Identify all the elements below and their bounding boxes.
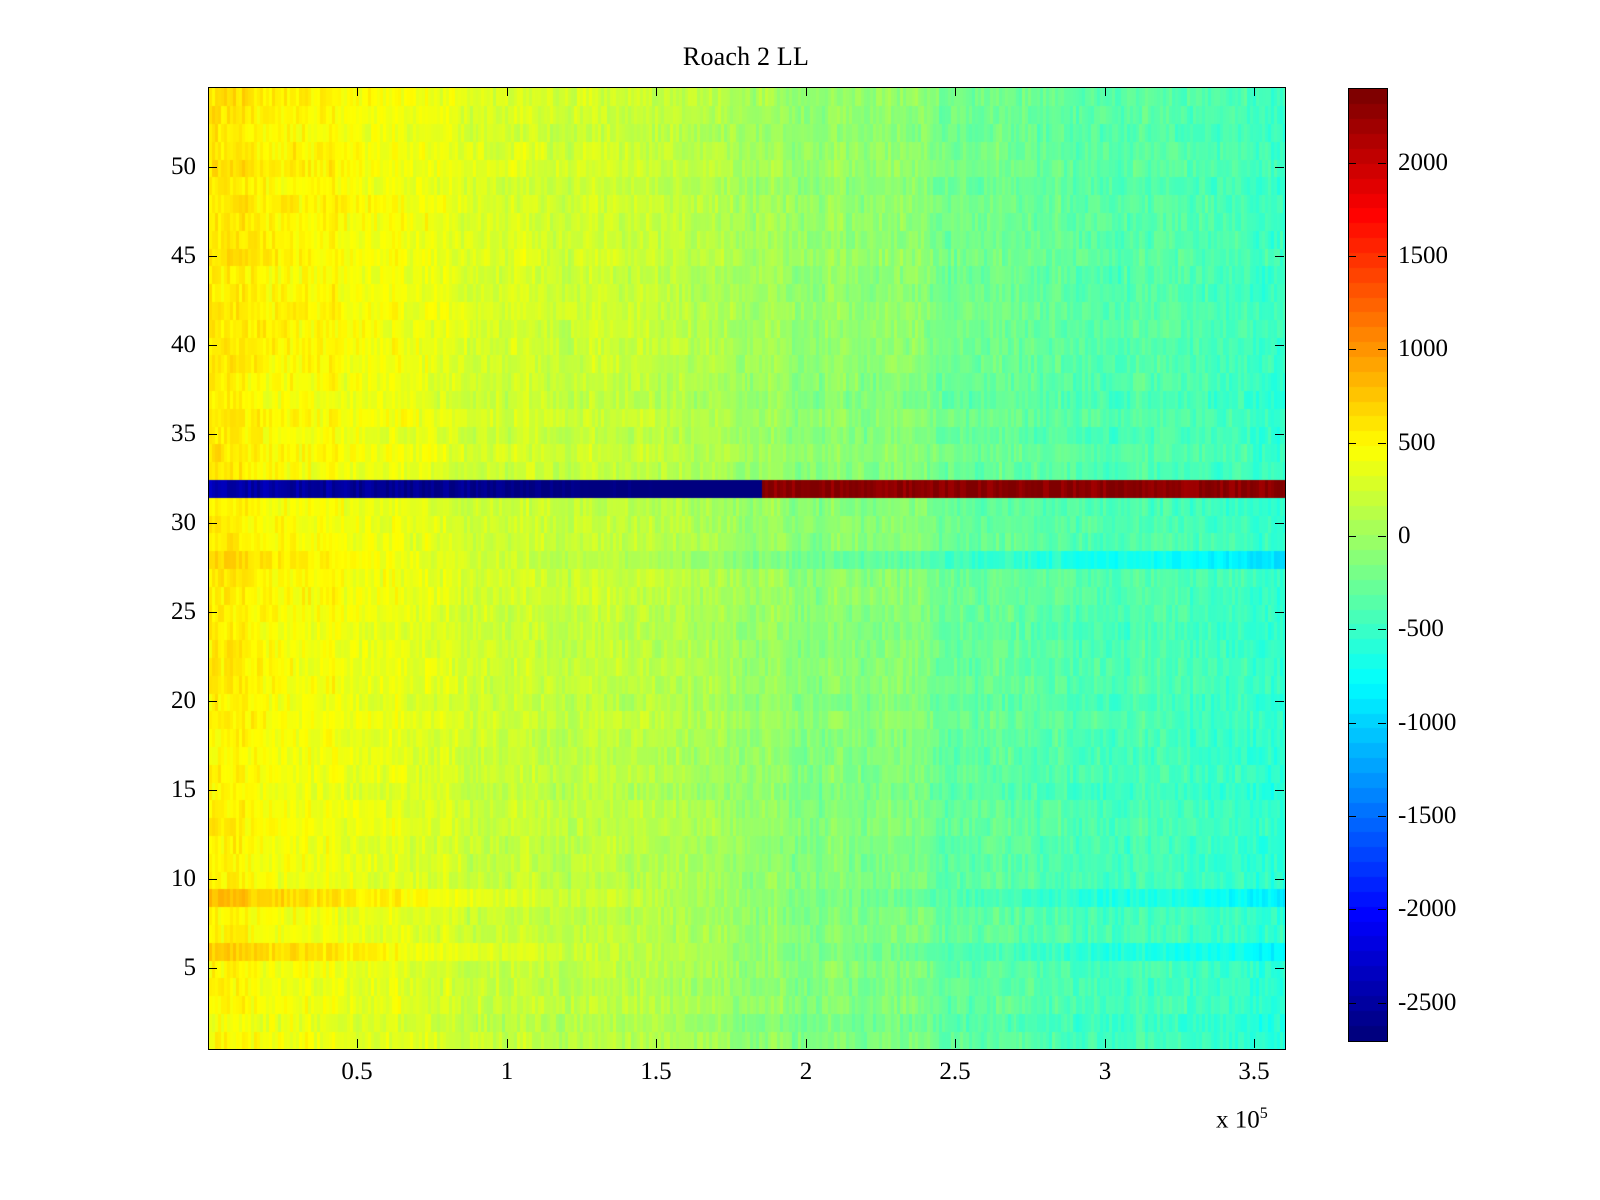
x-tick-mark-top — [507, 87, 508, 96]
x-tick-mark — [357, 1039, 358, 1048]
y-tick-mark-right — [1275, 434, 1284, 435]
y-tick-label: 35 — [118, 420, 196, 448]
y-tick-label: 50 — [118, 153, 196, 181]
y-tick-mark-right — [1275, 968, 1284, 969]
colorbar-tick-mark — [1348, 256, 1356, 257]
x-tick-mark — [955, 1039, 956, 1048]
colorbar-tick-mark — [1348, 349, 1356, 350]
colorbar-tick-label: -500 — [1398, 615, 1444, 643]
y-tick-label: 20 — [118, 687, 196, 715]
x-tick-label: 2 — [800, 1058, 813, 1086]
x-tick-label: 2.5 — [939, 1058, 970, 1086]
x-tick-mark — [1105, 1039, 1106, 1048]
y-tick-mark-right — [1275, 345, 1284, 346]
colorbar-tick-label: 1000 — [1398, 335, 1448, 363]
y-tick-mark-right — [1275, 790, 1284, 791]
colorbar-tick-mark-right — [1378, 256, 1386, 257]
y-tick-label: 15 — [118, 776, 196, 804]
colorbar-tick-mark-right — [1378, 909, 1386, 910]
y-tick-mark — [208, 345, 217, 346]
y-tick-mark — [208, 612, 217, 613]
x-axis-exponent-label: x 105 — [1216, 1105, 1268, 1134]
x-axis-exponent-base: x 10 — [1216, 1106, 1260, 1133]
heatmap-axes[interactable] — [208, 87, 1286, 1050]
y-tick-label: 5 — [118, 954, 196, 982]
colorbar-tick-label: -1500 — [1398, 802, 1456, 830]
y-tick-mark-right — [1275, 523, 1284, 524]
x-tick-mark-top — [955, 87, 956, 96]
colorbar-tick-mark-right — [1378, 536, 1386, 537]
colorbar-tick-label: 2000 — [1398, 149, 1448, 177]
y-tick-label: 10 — [118, 865, 196, 893]
colorbar-tick-mark-right — [1378, 629, 1386, 630]
colorbar-tick-mark — [1348, 723, 1356, 724]
y-tick-mark-right — [1275, 167, 1284, 168]
heatmap-image[interactable] — [209, 88, 1285, 1049]
x-tick-mark — [806, 1039, 807, 1048]
x-tick-mark-top — [357, 87, 358, 96]
colorbar-tick-mark-right — [1378, 163, 1386, 164]
colorbar-tick-mark-right — [1378, 723, 1386, 724]
y-tick-mark — [208, 879, 217, 880]
y-tick-mark — [208, 167, 217, 168]
colorbar-tick-mark — [1348, 816, 1356, 817]
y-tick-mark-right — [1275, 879, 1284, 880]
y-tick-mark-right — [1275, 701, 1284, 702]
colorbar-tick-label: 1500 — [1398, 242, 1448, 270]
x-tick-mark — [656, 1039, 657, 1048]
colorbar-tick-label: -1000 — [1398, 709, 1456, 737]
x-tick-mark — [507, 1039, 508, 1048]
colorbar-tick-mark-right — [1378, 349, 1386, 350]
x-tick-mark-top — [1105, 87, 1106, 96]
x-axis-exponent-power: 5 — [1260, 1105, 1268, 1122]
x-tick-label: 3 — [1099, 1058, 1112, 1086]
colorbar-gradient[interactable] — [1349, 89, 1387, 1041]
colorbar-tick-mark-right — [1378, 443, 1386, 444]
x-tick-mark — [1254, 1039, 1255, 1048]
x-tick-label: 3.5 — [1238, 1058, 1269, 1086]
y-tick-mark — [208, 790, 217, 791]
y-tick-mark — [208, 434, 217, 435]
colorbar-tick-label: -2000 — [1398, 895, 1456, 923]
colorbar-tick-mark — [1348, 536, 1356, 537]
colorbar-tick-label: -2500 — [1398, 989, 1456, 1017]
colorbar-tick-mark — [1348, 629, 1356, 630]
colorbar[interactable] — [1348, 88, 1388, 1042]
x-tick-label: 0.5 — [341, 1058, 372, 1086]
x-tick-mark-top — [1254, 87, 1255, 96]
colorbar-tick-mark — [1348, 909, 1356, 910]
y-tick-mark-right — [1275, 612, 1284, 613]
colorbar-tick-mark — [1348, 163, 1356, 164]
x-tick-mark-top — [806, 87, 807, 96]
y-tick-mark-right — [1275, 256, 1284, 257]
y-tick-label: 45 — [118, 242, 196, 270]
y-tick-label: 40 — [118, 331, 196, 359]
x-tick-label: 1.5 — [640, 1058, 671, 1086]
page-title: Roach 2 LL — [208, 42, 1284, 72]
colorbar-tick-label: 500 — [1398, 429, 1436, 457]
x-tick-label: 1 — [501, 1058, 514, 1086]
y-tick-label: 30 — [118, 509, 196, 537]
colorbar-tick-mark-right — [1378, 816, 1386, 817]
colorbar-tick-mark-right — [1378, 1003, 1386, 1004]
y-tick-mark — [208, 523, 217, 524]
y-tick-mark — [208, 968, 217, 969]
y-tick-mark — [208, 256, 217, 257]
figure-canvas: Roach 2 LL 0.511.522.533.5 5101520253035… — [0, 0, 1600, 1200]
y-tick-mark — [208, 701, 217, 702]
colorbar-tick-label: 0 — [1398, 522, 1411, 550]
x-tick-mark-top — [656, 87, 657, 96]
colorbar-tick-mark — [1348, 443, 1356, 444]
y-tick-label: 25 — [118, 598, 196, 626]
colorbar-tick-mark — [1348, 1003, 1356, 1004]
